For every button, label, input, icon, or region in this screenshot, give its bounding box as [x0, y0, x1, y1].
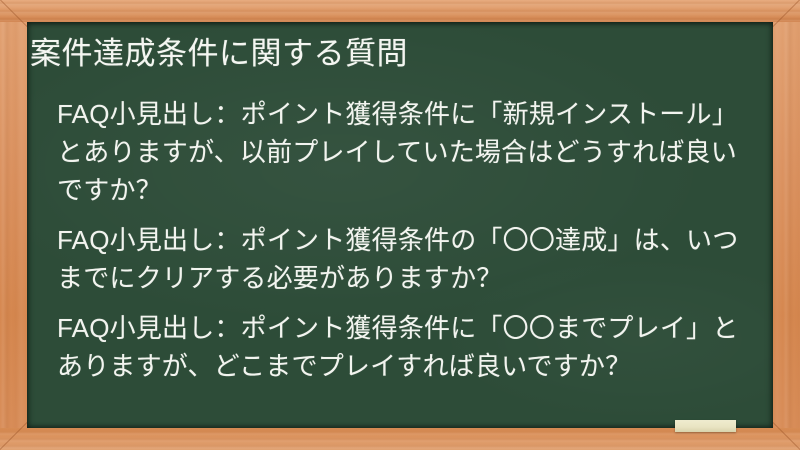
- chalk-eraser-icon: [675, 420, 736, 432]
- faq-item: FAQ小見出し：ポイント獲得条件に「〇〇までプレイ」とありますが、どこまでプレイ…: [57, 310, 757, 386]
- faq-list: FAQ小見出し：ポイント獲得条件に「新規インストール」とありますが、以前プレイし…: [57, 96, 757, 386]
- frame-rail-top: [0, 0, 800, 22]
- chalkboard-slide: 案件達成条件に関する質問 FAQ小見出し：ポイント獲得条件に「新規インストール」…: [0, 0, 800, 450]
- faq-item: FAQ小見出し：ポイント獲得条件に「新規インストール」とありますが、以前プレイし…: [57, 96, 757, 210]
- chalkboard-surface: 案件達成条件に関する質問 FAQ小見出し：ポイント獲得条件に「新規インストール」…: [27, 22, 773, 428]
- faq-item: FAQ小見出し：ポイント獲得条件の「〇〇達成」は、いつまでにクリアする必要があり…: [57, 222, 757, 298]
- page-title: 案件達成条件に関する質問: [30, 34, 408, 74]
